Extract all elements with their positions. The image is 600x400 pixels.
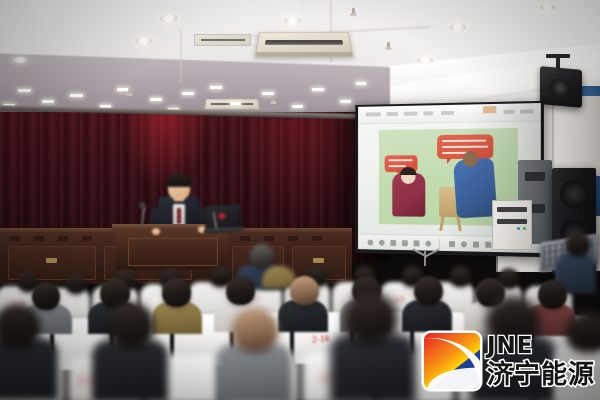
taskbar-icon[interactable] [473, 241, 479, 247]
stage-trim [312, 236, 322, 241]
downlight-icon [540, 4, 555, 11]
jne-logo-icon [424, 333, 480, 389]
sprinkler-head-icon [128, 88, 131, 95]
strip-light-icon [18, 89, 31, 92]
presenter-hair [166, 173, 192, 187]
downlight-icon [284, 17, 301, 25]
stage-trim [240, 236, 250, 241]
taskbar-icon[interactable] [449, 241, 455, 247]
audience-head [566, 232, 590, 256]
strip-light-icon [182, 92, 194, 95]
audience-head [162, 278, 191, 307]
taskbar-icon[interactable] [379, 240, 385, 246]
audience-head [0, 304, 40, 348]
audience-head [226, 276, 255, 305]
sprinkler-head-icon [352, 8, 355, 15]
speaker-port [525, 172, 545, 181]
audience-shoulders [216, 344, 292, 400]
bubble-text-line [388, 165, 405, 167]
speaker-cone-icon [550, 78, 570, 98]
sprinkler-head-icon [272, 96, 275, 103]
bubble-text-line [388, 159, 412, 161]
strip-light-icon [150, 98, 162, 101]
strip-light-icon [292, 105, 303, 108]
ribbon-item [387, 112, 399, 116]
ribbon-item [366, 112, 381, 116]
ceiling-speaker [540, 66, 582, 108]
ac-lip [256, 52, 352, 56]
strip-light-icon [70, 94, 83, 97]
strip-light-icon [42, 100, 54, 103]
downlight-icon [450, 23, 466, 31]
microphone-icon [139, 202, 146, 209]
strip-light-icon [262, 92, 274, 95]
jne-watermark: JNE 济宁能源 [424, 330, 596, 392]
downlight-icon [13, 57, 27, 63]
audience-head [232, 308, 278, 352]
ribbon-item [404, 112, 418, 116]
stage-trim [264, 236, 274, 241]
screen-stand-post [424, 250, 426, 266]
cartoon-figure-blue [453, 157, 497, 218]
speaker-driver-icon [560, 180, 588, 208]
status-led [517, 227, 520, 230]
audience-head [450, 266, 471, 287]
taskbar-icon[interactable] [402, 240, 408, 246]
taskbar-icon[interactable] [461, 241, 467, 247]
bubble-text-line [442, 140, 486, 142]
audience-head [538, 280, 567, 309]
strip-light-icon [312, 88, 324, 91]
stage-trim [58, 236, 68, 241]
strip-light-icon [230, 102, 241, 105]
audience-head [108, 302, 154, 348]
ribbon-item [520, 109, 534, 113]
stage-trim [34, 236, 44, 241]
chair-seat-number: 2-10 [312, 333, 330, 344]
taskbar-icon[interactable] [414, 240, 420, 246]
audience-head [414, 276, 443, 305]
cartoon-figure-blue-head [463, 151, 478, 167]
stage-trim [82, 236, 92, 241]
stage-plaque [313, 258, 324, 263]
taskbar-icon[interactable] [485, 242, 491, 248]
strip-light-icon [210, 86, 222, 89]
downlight-icon [135, 37, 152, 45]
watermark-latin-text: JNE [487, 335, 595, 358]
equipment-rack [492, 200, 532, 250]
ribbon-accent-item [483, 106, 496, 113]
bubble-text-line [442, 146, 488, 148]
ac-grille [265, 40, 343, 45]
sprinkler-head-icon [387, 42, 390, 49]
downlight-icon [160, 14, 178, 23]
watermark-chinese-text: 济宁能源 [487, 362, 595, 388]
presentation-ribbon [358, 103, 541, 124]
audience-head [66, 274, 86, 294]
curtain-highlight [120, 112, 210, 192]
watermark-text-block: JNE 济宁能源 [487, 335, 595, 388]
audience-head [290, 276, 319, 305]
presenter-hand [152, 228, 160, 235]
ribbon-item [504, 110, 515, 114]
ceiling-vent-panel [194, 34, 251, 46]
ceiling-seam [180, 30, 182, 82]
chair-seat-number: 4-9 [394, 296, 405, 305]
rack-slot [497, 207, 527, 212]
stage-plaque [46, 258, 57, 263]
audience-head [250, 244, 274, 268]
taskbar-icon[interactable] [390, 240, 396, 246]
stage-trim [10, 236, 20, 241]
cartoon-figure-red-hair [400, 167, 416, 175]
taskbar-icon[interactable] [368, 240, 374, 246]
taskbar-divider [439, 239, 440, 249]
strip-light-icon [356, 82, 366, 85]
ribbon-item [423, 111, 433, 115]
ribbon-item [441, 111, 454, 115]
photograph-conference-hall: 5-11 2-10 3-7 4-9 1-6 6-12 3-7 2-10 4-9 [0, 0, 600, 400]
status-led [523, 227, 526, 230]
podium-front-panel [128, 238, 218, 266]
rack-slot [497, 219, 527, 224]
strip-light-icon [340, 100, 351, 103]
taskbar-icon[interactable] [425, 241, 431, 247]
stage-trim [288, 236, 298, 241]
audience-shoulders [92, 340, 168, 400]
vent-slot [201, 39, 245, 41]
downlight-icon [417, 57, 433, 64]
presenter-tie [177, 208, 181, 224]
audience-head [344, 292, 398, 344]
audience-head [32, 282, 60, 310]
ceiling-ac-cassette [255, 32, 354, 57]
